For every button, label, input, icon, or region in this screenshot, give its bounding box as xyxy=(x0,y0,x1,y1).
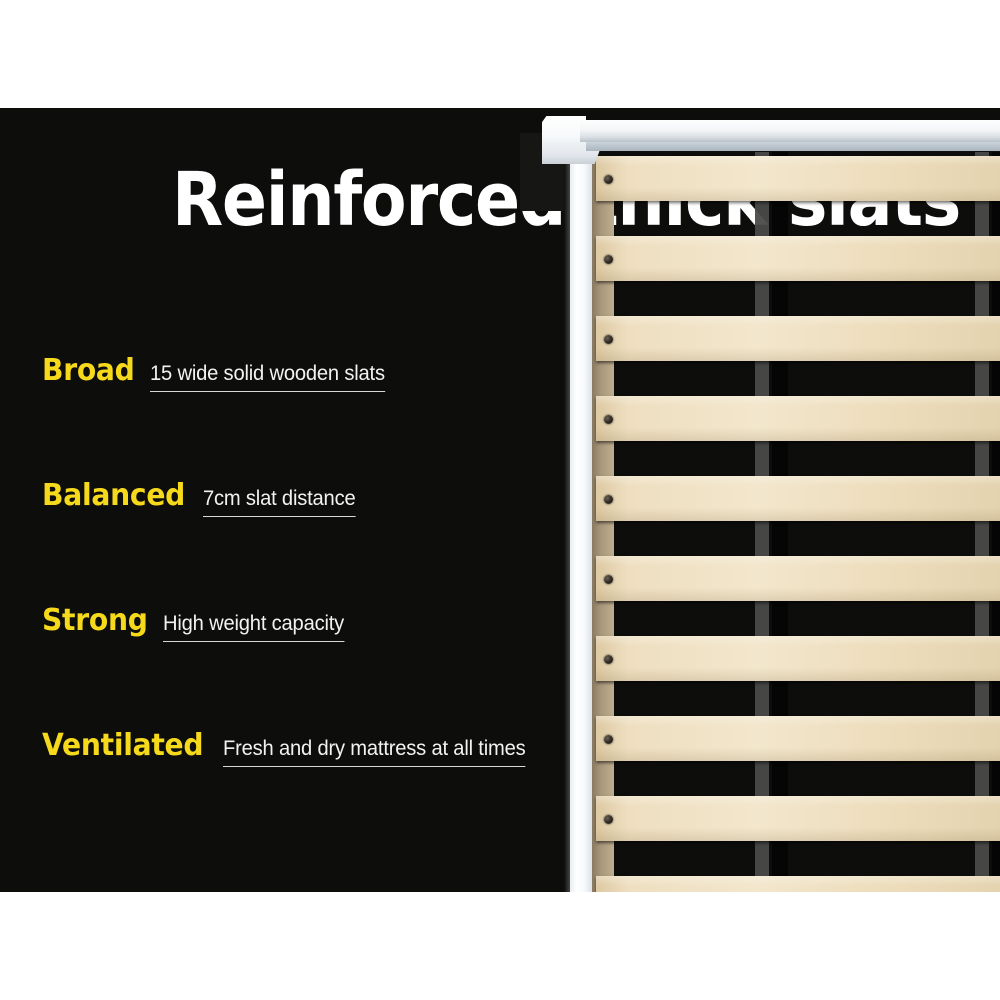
top-rail xyxy=(580,120,1000,142)
content-band: Reinforced thick slats Broad 15 wide sol… xyxy=(0,108,1000,892)
list-item: Balanced 7cm slat distance xyxy=(42,478,562,603)
feature-label-balanced: Balanced xyxy=(42,478,185,513)
feature-label-ventilated: Ventilated xyxy=(42,728,203,763)
slat-screw-5 xyxy=(604,495,613,504)
list-item: Ventilated Fresh and dry mattress at all… xyxy=(42,728,562,853)
feature-list: Broad 15 wide solid wooden slats Balance… xyxy=(42,353,562,853)
corner-post xyxy=(570,150,592,892)
feature-description-broad: 15 wide solid wooden slats xyxy=(150,362,385,392)
feature-label-strong: Strong xyxy=(42,603,148,638)
feature-description-strong: High weight capacity xyxy=(163,612,344,642)
feature-label-broad: Broad xyxy=(42,353,135,388)
wooden-slat-4 xyxy=(596,396,1000,441)
slat-screw-8 xyxy=(604,735,613,744)
list-item: Broad 15 wide solid wooden slats xyxy=(42,353,562,478)
product-feature-graphic: Reinforced thick slats Broad 15 wide sol… xyxy=(0,0,1000,1000)
slat-screw-3 xyxy=(604,335,613,344)
wooden-slat-7 xyxy=(596,636,1000,681)
slat-screw-4 xyxy=(604,415,613,424)
feature-description-ventilated: Fresh and dry mattress at all times xyxy=(223,737,526,767)
wooden-slat-5 xyxy=(596,476,1000,521)
slat-screw-6 xyxy=(604,575,613,584)
wooden-slat-2 xyxy=(596,236,1000,281)
wooden-slat-6 xyxy=(596,556,1000,601)
top-rail-underside xyxy=(586,142,1000,151)
product-photo-bed-slats xyxy=(500,108,1000,892)
slat-screw-7 xyxy=(604,655,613,664)
wooden-slat-3 xyxy=(596,316,1000,361)
wooden-slat-10 xyxy=(596,876,1000,892)
slat-screw-1 xyxy=(604,175,613,184)
wooden-slat-9 xyxy=(596,796,1000,841)
slat-screw-2 xyxy=(604,255,613,264)
wooden-slat-1 xyxy=(596,156,1000,201)
list-item: Strong High weight capacity xyxy=(42,603,562,728)
feature-description-balanced: 7cm slat distance xyxy=(203,487,355,517)
slat-screw-9 xyxy=(604,815,613,824)
wooden-slat-8 xyxy=(596,716,1000,761)
